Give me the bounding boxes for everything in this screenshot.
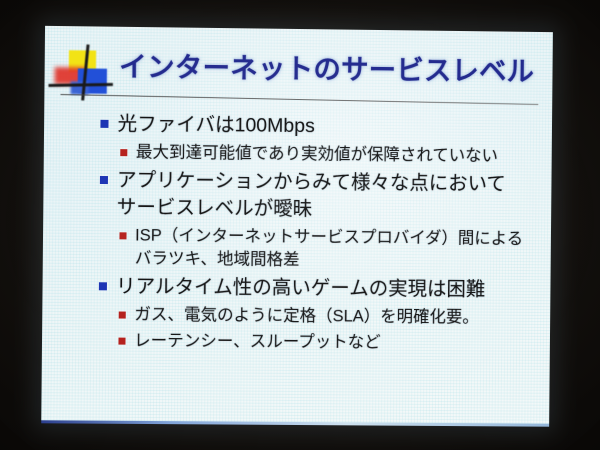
list-item-label: ISP（インターネットサービスプロバイダ）間によるバラツキ、地域間格差 (135, 224, 531, 274)
bullet-square-icon (119, 312, 126, 319)
slide-title-area: インターネットのサービスレベル (44, 26, 553, 110)
list-item: ISP（インターネットサービスプロバイダ）間によるバラツキ、地域間格差 (43, 224, 551, 275)
list-item: レーテンシー、スループットなど (42, 329, 550, 356)
list-item: 最大到達可能値であり実効値が保障されていない (44, 140, 552, 168)
bullet-square-icon (118, 338, 125, 345)
slide-title: インターネットのサービスレベル (119, 50, 534, 89)
list-item-label: 光ファイバは100Mbps (117, 111, 315, 140)
projected-slide-photo: インターネットのサービスレベル 光ファイバは100Mbps 最大到達可能値であり… (0, 0, 600, 450)
list-item: ガス、電気のように定格（SLA）を明確化要。 (42, 303, 550, 330)
slide: インターネットのサービスレベル 光ファイバは100Mbps 最大到達可能値であり… (41, 26, 553, 427)
list-item-label: 最大到達可能値であり実効値が保障されていない (136, 141, 498, 168)
bullet-list: 光ファイバは100Mbps 最大到達可能値であり実効値が保障されていない アプリ… (42, 110, 552, 359)
bullet-square-icon (119, 232, 126, 239)
list-item: リアルタイム性の高いゲームの実現は困難 (42, 273, 550, 304)
bullet-square-icon (99, 282, 107, 290)
list-item: 光ファイバは100Mbps (44, 110, 552, 143)
office-squares-logo-icon (54, 48, 111, 99)
list-item-label: ガス、電気のように定格（SLA）を明確化要。 (134, 304, 479, 330)
list-item-label: リアルタイム性の高いゲームの実現は困難 (116, 273, 485, 303)
list-item-label: アプリケーションからみて様々な点においてサービスレベルが曖昧 (117, 167, 517, 225)
bullet-square-icon (100, 176, 108, 184)
bullet-square-icon (120, 149, 127, 156)
list-item-label: レーテンシー、スループットなど (134, 330, 381, 355)
title-underline (60, 94, 538, 105)
projection-screen: インターネットのサービスレベル 光ファイバは100Mbps 最大到達可能値であり… (41, 26, 553, 427)
bullet-square-icon (100, 120, 108, 128)
list-item: アプリケーションからみて様々な点においてサービスレベルが曖昧 (43, 166, 551, 225)
